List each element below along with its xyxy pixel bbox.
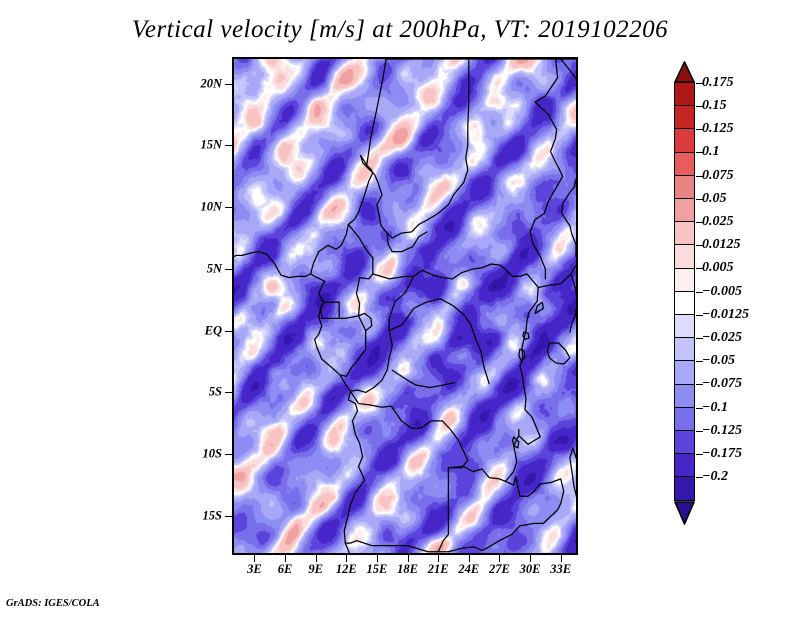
- colorbar-tick-label: 0.0125: [702, 237, 741, 253]
- colorbar-segment: [674, 430, 695, 455]
- x-axis-label: 3E: [247, 562, 262, 577]
- colorbar-tick: [696, 152, 703, 153]
- x-axis-label: 21E: [428, 562, 449, 577]
- y-axis-tick: [225, 207, 233, 208]
- colorbar-tick-label: −0.005: [702, 284, 742, 300]
- colorbar-segment: [674, 476, 695, 501]
- colorbar-tick: [696, 454, 703, 455]
- colorbar-segment: [674, 407, 695, 432]
- y-axis-label: 15N: [178, 138, 222, 153]
- colorbar-segment: [674, 105, 695, 130]
- colorbar-tick-label: 0.025: [702, 214, 734, 230]
- y-axis-label: 10S: [178, 447, 222, 462]
- colorbar-tick: [696, 83, 703, 84]
- colorbar-segment: [674, 360, 695, 385]
- chart-title: Vertical velocity [m/s] at 200hPa, VT: 2…: [0, 16, 800, 44]
- colorbar-tick: [696, 315, 703, 316]
- y-axis-label: 15S: [178, 508, 222, 523]
- x-axis-tick: [285, 555, 286, 562]
- colorbar-tick-label: 0.05: [702, 191, 727, 207]
- y-axis-tick: [225, 392, 233, 393]
- x-axis-tick: [438, 555, 439, 562]
- y-axis-tick: [225, 331, 233, 332]
- x-axis-label: 9E: [308, 562, 323, 577]
- colorbar-segment: [674, 268, 695, 293]
- colorbar-segment: [674, 198, 695, 223]
- colorbar-segment: [674, 244, 695, 269]
- x-axis-tick: [408, 555, 409, 562]
- x-axis-tick: [316, 555, 317, 562]
- x-axis-tick: [530, 555, 531, 562]
- colorbar-tick-label: 0.1: [702, 144, 720, 160]
- x-axis-label: 24E: [458, 562, 479, 577]
- colorbar-segment: [674, 152, 695, 177]
- colorbar-segment: [674, 453, 695, 478]
- colorbar-tick: [696, 245, 703, 246]
- x-axis-tick: [499, 555, 500, 562]
- x-axis-label: 12E: [336, 562, 357, 577]
- colorbar-tick-label: −0.1: [702, 400, 728, 416]
- colorbar-tick-label: 0.125: [702, 121, 734, 137]
- y-axis-label: 5N: [178, 261, 222, 276]
- y-axis-label: 5S: [178, 385, 222, 400]
- colorbar-tick: [696, 176, 703, 177]
- x-axis-tick: [561, 555, 562, 562]
- colorbar-segment: [674, 128, 695, 153]
- x-axis-label: 6E: [278, 562, 293, 577]
- x-axis-tick: [377, 555, 378, 562]
- x-axis-label: 27E: [489, 562, 510, 577]
- x-axis-label: 30E: [520, 562, 541, 577]
- colorbar-tick-label: −0.2: [702, 469, 728, 485]
- colorbar-tick-label: −0.125: [702, 423, 742, 439]
- colorbar-tick: [696, 199, 703, 200]
- y-axis-label: EQ: [178, 323, 222, 338]
- map-plot-area: [232, 57, 578, 555]
- colorbar: 0.1750.150.1250.10.0750.050.0250.01250.0…: [671, 60, 797, 565]
- y-axis-tick: [225, 269, 233, 270]
- colorbar-segment: [674, 82, 695, 107]
- colorbar-segment: [674, 314, 695, 339]
- footer-credit: GrADS: IGES/COLA: [6, 598, 100, 609]
- vertical-velocity-field: [234, 59, 576, 553]
- colorbar-tick: [696, 431, 703, 432]
- colorbar-tick: [696, 292, 703, 293]
- colorbar-tick: [696, 361, 703, 362]
- colorbar-segment: [674, 175, 695, 200]
- y-axis-tick: [225, 516, 233, 517]
- x-axis-tick: [469, 555, 470, 562]
- colorbar-segment: [674, 221, 695, 246]
- x-axis-tick: [254, 555, 255, 562]
- y-axis-tick: [225, 84, 233, 85]
- colorbar-tick-label: −0.175: [702, 446, 742, 462]
- x-axis-label: 18E: [397, 562, 418, 577]
- x-axis-label: 15E: [367, 562, 388, 577]
- colorbar-tick-label: 0.15: [702, 98, 727, 114]
- chart-canvas: Vertical velocity [m/s] at 200hPa, VT: 2…: [0, 0, 800, 618]
- y-axis-label: 20N: [178, 76, 222, 91]
- colorbar-tick-label: −0.05: [702, 353, 735, 369]
- colorbar-tick-label: 0.005: [702, 260, 734, 276]
- colorbar-segment: [674, 337, 695, 362]
- colorbar-segment: [674, 291, 695, 316]
- colorbar-tick: [696, 222, 703, 223]
- colorbar-tick: [696, 338, 703, 339]
- colorbar-tick: [696, 268, 703, 269]
- colorbar-tick: [696, 384, 703, 385]
- colorbar-segment: [674, 384, 695, 409]
- colorbar-tick-label: −0.075: [702, 376, 742, 392]
- x-axis-label: 33E: [550, 562, 571, 577]
- y-axis-tick: [225, 145, 233, 146]
- y-axis-label: 10N: [178, 200, 222, 215]
- colorbar-tick-label: 0.075: [702, 168, 734, 184]
- colorbar-tick: [696, 129, 703, 130]
- colorbar-tick-label: −0.0125: [702, 307, 749, 323]
- colorbar-tick: [696, 106, 703, 107]
- colorbar-tick: [696, 408, 703, 409]
- y-axis-tick: [225, 454, 233, 455]
- x-axis-tick: [346, 555, 347, 562]
- colorbar-tick-label: −0.025: [702, 330, 742, 346]
- colorbar-tick: [696, 477, 703, 478]
- colorbar-tick-label: 0.175: [702, 75, 734, 91]
